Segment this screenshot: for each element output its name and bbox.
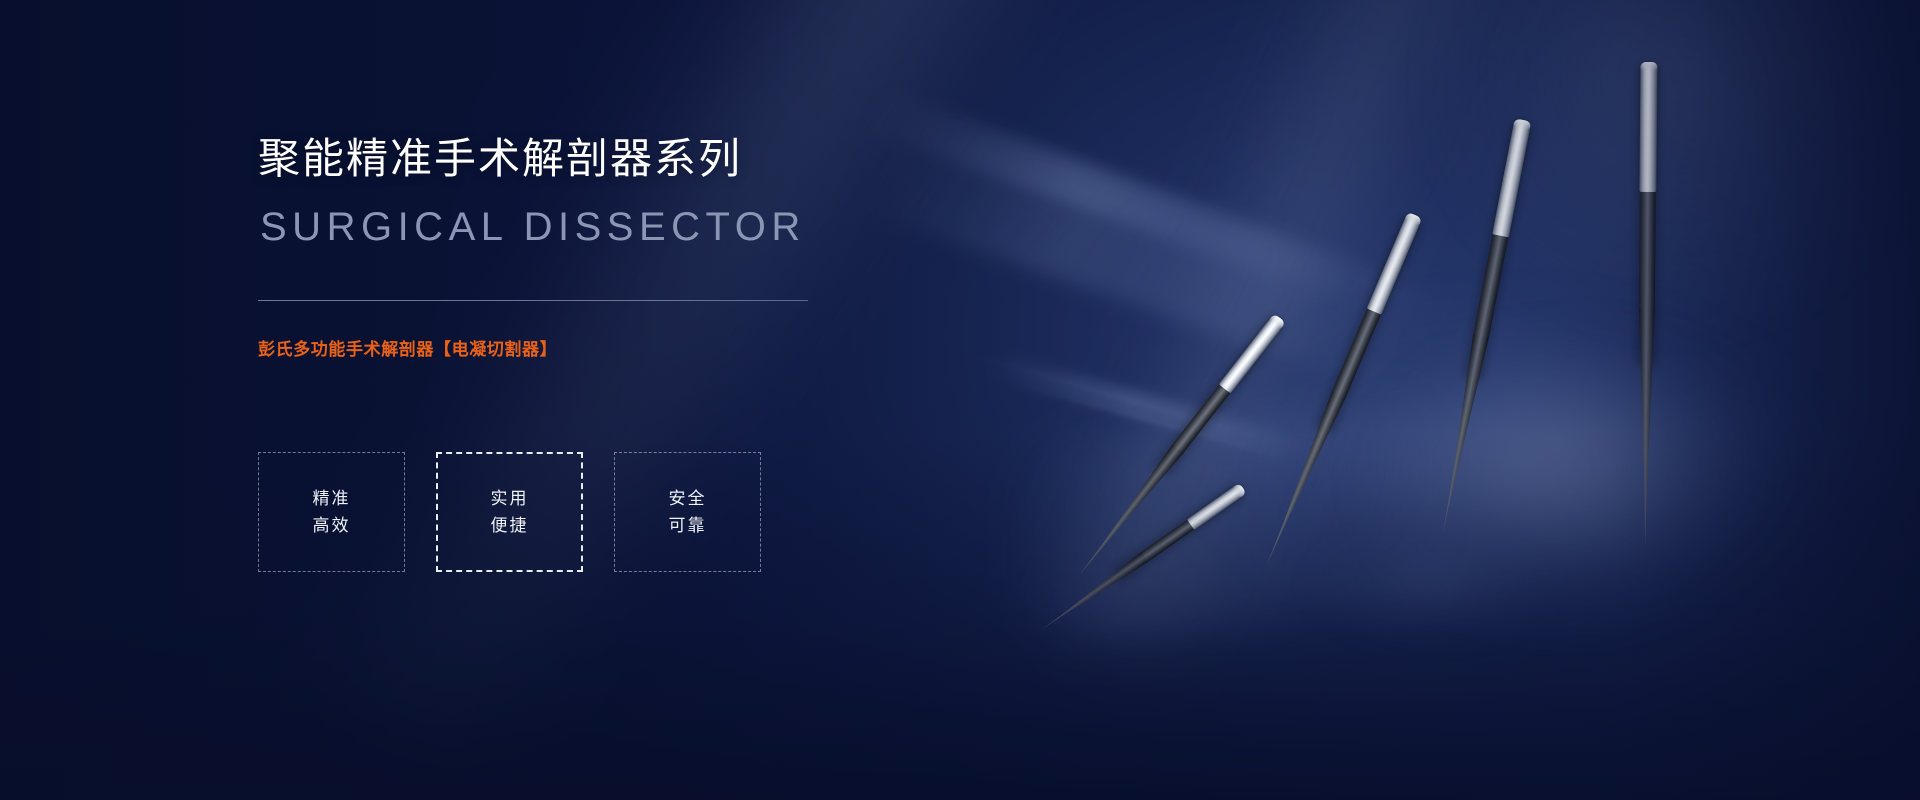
feature-label-line-2: 便捷 — [491, 517, 529, 534]
feature-box-group: 精准 高效 实用 便捷 安全 可靠 — [258, 452, 761, 572]
page-subtitle-english: SURGICAL DISSECTOR — [260, 205, 806, 250]
feature-label-line-1: 安全 — [669, 490, 707, 507]
feature-label-line-2: 可靠 — [669, 517, 707, 534]
feature-label-line-1: 精准 — [313, 490, 351, 507]
feature-label-line-2: 高效 — [313, 517, 351, 534]
product-banner: 聚能精准手术解剖器系列 SURGICAL DISSECTOR 彭氏多功能手术解剖… — [0, 0, 1920, 800]
title-divider — [258, 300, 808, 301]
page-title: 聚能精准手术解剖器系列 — [258, 125, 742, 186]
feature-label-line-1: 实用 — [491, 490, 529, 507]
feature-box-practical: 实用 便捷 — [436, 452, 583, 572]
product-name-highlight: 彭氏多功能手术解剖器【电凝切割器】 — [258, 335, 557, 360]
feature-box-precision: 精准 高效 — [258, 452, 405, 572]
feature-box-safety: 安全 可靠 — [614, 452, 761, 572]
banner-text-content: 聚能精准手术解剖器系列 SURGICAL DISSECTOR 彭氏多功能手术解剖… — [258, 0, 958, 800]
